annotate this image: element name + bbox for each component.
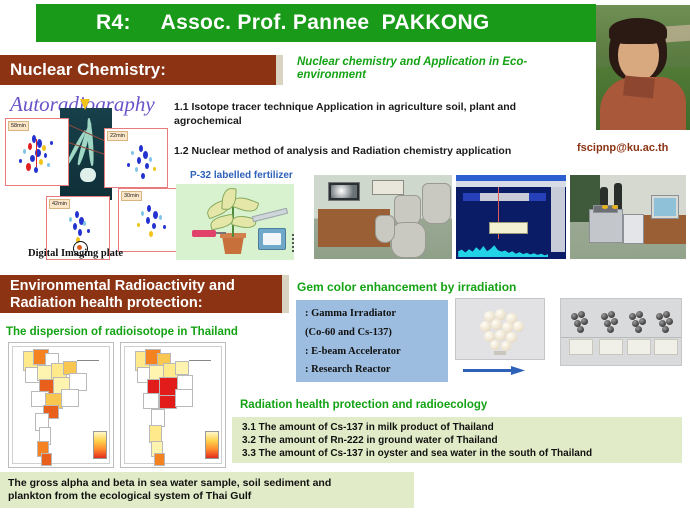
avatar (596, 5, 690, 130)
thailand-dispersion-map-1 (8, 342, 114, 468)
section-3-title: Gem color enhancement by irradiation (297, 280, 516, 294)
method-item-3: : E-beam Accelerator (305, 346, 401, 357)
section-4-item-2: 3.2 The amount of Rn-222 in ground water… (242, 435, 498, 446)
section-4-item-1: 3.1 The amount of Cs-137 in milk product… (242, 422, 494, 433)
pearls-before-irradiation-photo (455, 298, 545, 360)
footer-line-2: plankton from the ecological system of T… (8, 490, 251, 502)
spectrum-software-screen-photo (456, 175, 566, 259)
portrait-collar (623, 75, 655, 98)
section-4-title: Radiation health protection and radioeco… (240, 399, 487, 411)
digital-imaging-plate-caption: Digital Imaging plate (28, 248, 123, 259)
pearls-after-irradiation-photo (560, 298, 682, 366)
thailand-dispersion-map-2 (120, 342, 226, 468)
section-1-item-2: 1.2 Nuclear method of analysis and Radia… (174, 144, 574, 158)
section-1-item-1: 1.1 Isotope tracer technique Application… (174, 100, 564, 128)
section-1-header-tab (276, 55, 283, 85)
method-item-1: : Gamma Irradiator (305, 308, 396, 319)
p32-caption: P-32 labelled fertilizer (190, 170, 293, 181)
liquid-scintillation-lab-photo (570, 175, 686, 259)
page-title: R4: Assoc. Prof. Pannee PAKKONG (96, 11, 490, 35)
irradiation-arrow-icon (463, 366, 525, 375)
frame-label-22min: 22min (107, 131, 128, 141)
section-2-title: Environmental Radioactivity and Radiatio… (10, 278, 278, 312)
irradiation-methods-box: : Gamma Irradiator (Co-60 and Cs-137) : … (296, 300, 448, 382)
method-item-2: (Co-60 and Cs-137) (305, 327, 392, 338)
section-4-items-box: 3.1 The amount of Cs-137 in milk product… (232, 417, 682, 463)
section-1-title: Nuclear Chemistry: (10, 60, 166, 80)
poster-slide: R4: Assoc. Prof. Pannee PAKKONG Nuclear … (0, 0, 690, 518)
frame-label-30min: 30min (121, 191, 142, 201)
p32-fertilizer-illustration (176, 184, 294, 260)
map-caption: The dispersion of radioisotope in Thaila… (6, 326, 238, 338)
frame-label-58min: 58min (8, 121, 29, 131)
yellow-arrow-icon (80, 99, 90, 110)
contact-email[interactable]: fscipnp@ku.ac.th (577, 142, 668, 154)
footer-line-1: The gross alpha and beta in sea water sa… (8, 477, 331, 489)
section-2-header-tab (282, 275, 289, 313)
method-item-4: : Research Reactor (305, 364, 391, 375)
footer-box: The gross alpha and beta in sea water sa… (0, 472, 414, 508)
gamma-spectrometry-lab-photo (314, 175, 452, 259)
meter-dial (263, 233, 281, 245)
section-2-header-bar: Environmental Radioactivity and Radiatio… (0, 275, 282, 313)
section-1-header-bar: Nuclear Chemistry: (0, 55, 276, 85)
autoradiograph-frame-30min: 30min (118, 188, 182, 252)
frame-label-42min: 42min (49, 199, 70, 209)
section-4-item-3: 3.3 The amount of Cs-137 in oyster and s… (242, 448, 592, 459)
detector-probe (252, 208, 288, 223)
autoradiograph-frame-58min: 58min (5, 118, 69, 186)
plant-pot (222, 236, 244, 254)
autoradiograph-frame-22min: 22min (104, 128, 168, 188)
section-1-subtitle: Nuclear chemistry and Application in Eco… (297, 56, 547, 82)
syringe-icon (192, 230, 216, 237)
portrait-hair-front (609, 18, 667, 44)
title-bar: R4: Assoc. Prof. Pannee PAKKONG (36, 4, 596, 42)
